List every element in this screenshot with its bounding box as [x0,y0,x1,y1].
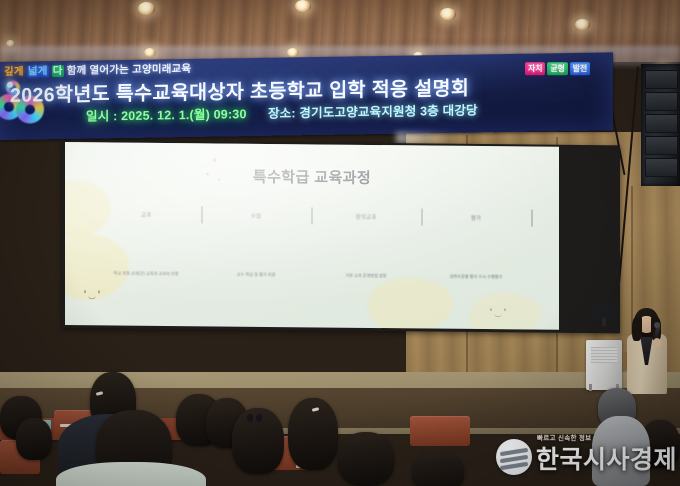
projector-washout [65,142,559,330]
watermark-outlet-name: 한국시사경제 [536,440,677,476]
projector-light-spill [396,132,456,144]
stage-equipment-cabinet [586,340,622,390]
audience-head [412,452,464,486]
line-array-speaker [641,64,680,186]
seat-back [410,416,470,446]
audience-head [338,432,394,486]
outlet-logo-icon [496,439,532,475]
banner-datetime: 일시 : 2025. 12. 1.(월) 09:30 [86,107,247,124]
ceiling-light [575,19,590,30]
cabinet-grille [591,347,617,363]
projection-screen: ✦ ✦ ✦ 특수학급 교육과정 교과 학교 지정 교과(군) 교육과 교과서 선… [65,142,559,330]
ceiling-light [144,48,156,57]
presenter-hand [653,338,661,347]
watermark: 빠르고 신속한 정보 한국시사경제 [496,432,672,478]
banner-badge-group: 자치 균형 발전 [525,62,590,75]
photo-canvas: 깊게 넓게 다 함께 열어가는 고양미래교육 2026학년도 특수교육대상자 초… [0,0,680,486]
banner-place: 장소: 경기도고양교육지원청 3층 대강당 [268,103,478,120]
ceiling-light [287,48,299,57]
presenter [624,308,670,394]
slogan-segment-3: 다 [52,65,64,77]
banner-badge-2: 균형 [547,62,567,75]
ceiling-light [138,2,155,15]
audience-head [16,418,52,460]
ceiling-light [6,40,15,47]
slogan-segment-4: 함께 열어가는 고양미래교육 [67,63,192,77]
projection-screen-frame: ✦ ✦ ✦ 특수학급 교육과정 교과 학교 지정 교과(군) 교육과 교과서 선… [62,140,620,333]
microphone-head-icon [654,322,660,328]
monitor-stand [602,318,606,326]
slogan-segment-1: 깊게 [4,66,24,78]
ceiling-light [440,8,456,20]
presenter-hair-side [632,317,642,341]
banner-badge-3: 발전 [570,62,590,75]
led-banner: 깊게 넓게 다 함께 열어가는 고양미래교육 2026학년도 특수교육대상자 초… [0,52,613,140]
hair-bow [247,414,262,422]
audience-shoulders [56,462,206,486]
slogan-segment-2: 넓게 [27,65,49,77]
ceiling-light [295,0,311,12]
banner-badge-1: 자치 [525,62,545,75]
